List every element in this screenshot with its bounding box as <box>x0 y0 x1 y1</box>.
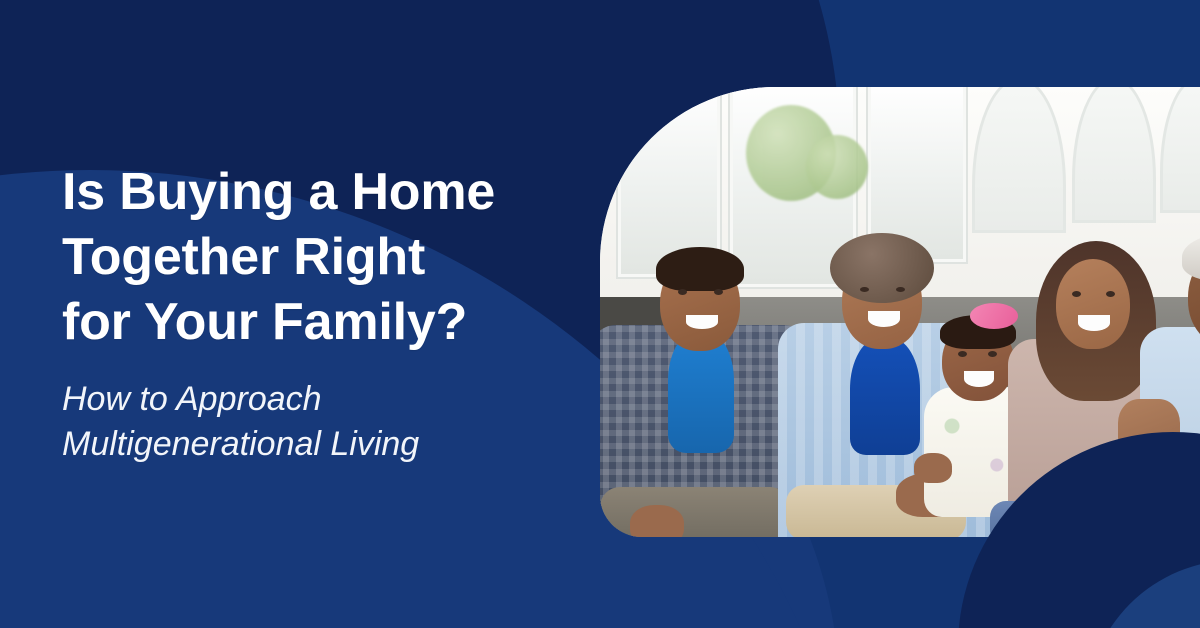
grandmother-smile <box>868 311 900 327</box>
grandmother-eye-left <box>860 287 869 292</box>
woman-eye-right <box>1106 291 1115 297</box>
arched-window-a <box>972 87 1066 233</box>
baby-smile <box>964 371 994 387</box>
text-block: Is Buying a Home Together Right for Your… <box>62 160 582 467</box>
baby-eye-right <box>988 351 997 357</box>
baby-eye-left <box>958 351 967 357</box>
baby-hand <box>914 453 952 483</box>
woman-eye-left <box>1072 291 1081 297</box>
window-foliage-2 <box>806 135 868 199</box>
headline: Is Buying a Home Together Right for Your… <box>62 160 582 355</box>
woman-face <box>1056 259 1130 349</box>
man-smile <box>686 315 718 329</box>
arched-window-b <box>1072 87 1156 223</box>
navy-top <box>850 337 920 455</box>
blue-tee <box>668 333 734 453</box>
man-trousers <box>600 487 790 537</box>
banner-canvas: Is Buying a Home Together Right for Your… <box>0 0 1200 628</box>
woman-smile <box>1078 315 1110 331</box>
man-eye-left <box>678 289 687 295</box>
man-hand <box>630 505 684 537</box>
subtitle: How to Approach Multigenerational Living <box>62 377 582 467</box>
man-hair <box>656 247 744 291</box>
grandmother-hair <box>830 233 934 303</box>
grandmother-eye-right <box>896 287 905 292</box>
man-eye-right <box>714 289 723 295</box>
grandfather-hair <box>1182 233 1200 281</box>
